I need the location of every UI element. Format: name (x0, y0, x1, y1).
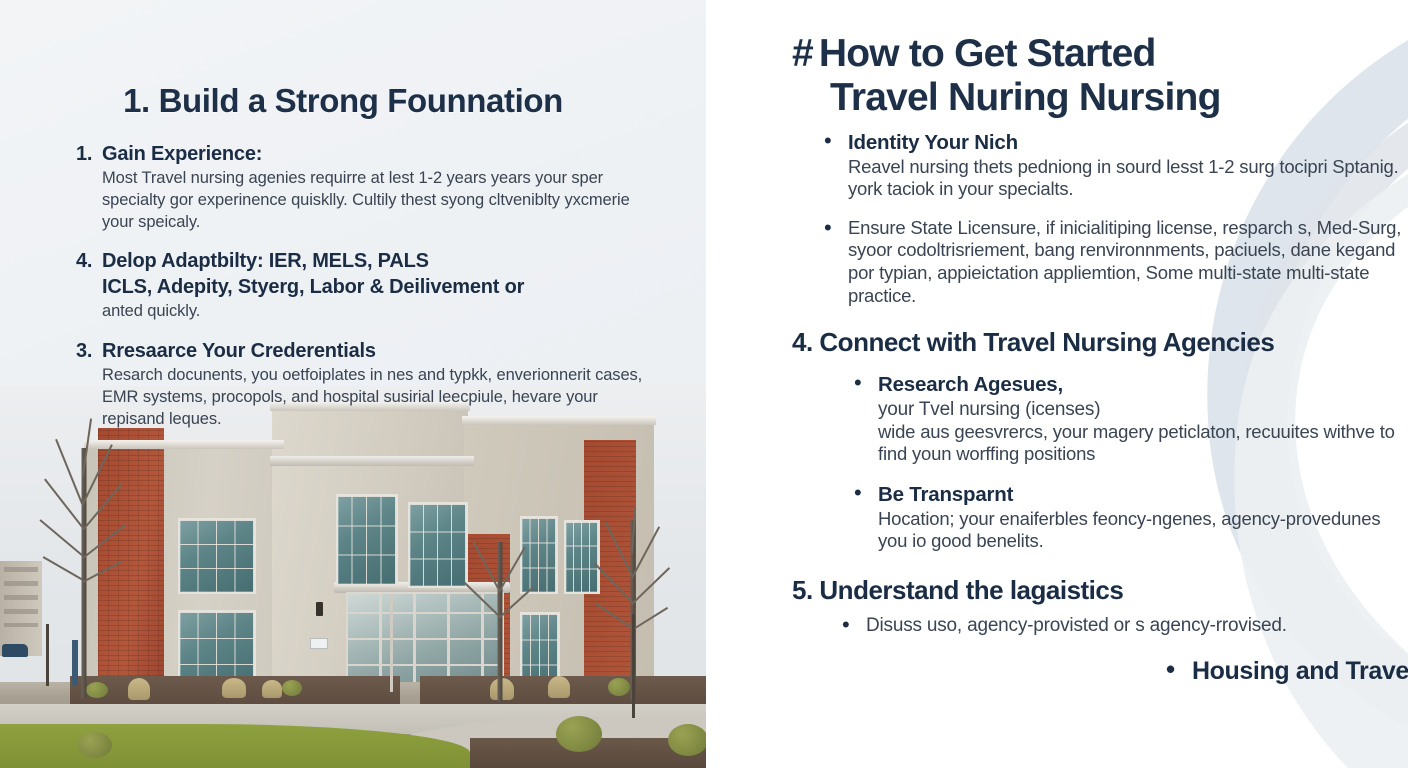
right-content-block: #How to Get Started Travel Nuring Nursin… (706, 0, 1408, 686)
right-panel-title: #How to Get Started Travel Nuring Nursin… (792, 32, 1408, 120)
section-4-title: 4. Connect with Travel Nursing Agencies (792, 327, 1408, 358)
building-sign (310, 638, 328, 649)
shrub-foreground-2 (668, 724, 706, 756)
numbered-item-1-marker: 1. (76, 142, 102, 167)
light-pole-foreground (632, 614, 635, 718)
bullet-identify-niche: Identity Your Nich Reavel nursing thets … (848, 130, 1408, 201)
right-panel-title-line2: Travel Nuring Nursing (792, 76, 1408, 120)
section-5-title: 5. Understand the lagaistics (792, 575, 1408, 606)
slide-canvas: 1. Build a Strong Founnation 1. Gain Exp… (0, 0, 1408, 768)
shrub-foreground-1 (556, 716, 602, 752)
shrub-1 (282, 680, 302, 696)
bullet-list-section-5: Disuss uso, agency-provisted or s agency… (792, 614, 1408, 637)
bullet-list-section-4: Research Agesues, your Tvel nursing (ice… (792, 372, 1408, 553)
bullet-discuss-logistics: Disuss uso, agency-provisted or s agency… (866, 614, 1408, 637)
numbered-item-1: 1. Gain Experience: Most Travel nursing … (76, 142, 648, 233)
numbered-item-1-head: 1. Gain Experience: (76, 142, 648, 167)
bare-tree-left (34, 408, 134, 698)
window-upper-center-a (336, 494, 398, 586)
wall-sconce-light (316, 602, 323, 616)
main-building (84, 406, 654, 688)
bullet-research-agencies-heading: Research Agesues, (878, 372, 1408, 398)
bullet-identify-niche-heading: Identity Your Nich (848, 130, 1408, 156)
bullet-state-licensure-body: Ensure State Licensure, if inicialitipin… (848, 217, 1408, 307)
bullet-research-agencies-inline: your Tvel nursing (icenses) (878, 399, 1100, 420)
numbered-item-3-heading: Rresaarce Your Crederentials (102, 339, 648, 364)
numbered-item-2-subheading: ICLS, Adepity, Styerg, Labor & Deiliveme… (102, 274, 648, 300)
bullet-identify-niche-body: Reavel nursing thets pedniong in sourd l… (848, 156, 1408, 201)
bullet-discuss-logistics-body: Disuss uso, agency-provisted or s agency… (866, 614, 1408, 637)
numbered-item-2-head: 4. Delop Adaptbilty: IER, MELS, PALS (76, 249, 648, 274)
numbered-item-2-body: anted quickly. (102, 301, 648, 323)
bullet-be-transparent: Be Transparnt Hocation; your enaiferbles… (878, 482, 1408, 553)
numbered-item-1-body: Most Travel nursing agenies requirre at … (102, 168, 648, 233)
entrance-door-mullion (390, 594, 393, 692)
bullet-housing-and-travel: Housing and Travel (1192, 657, 1408, 686)
ornamental-grass-2 (222, 678, 246, 698)
parked-car (2, 644, 28, 657)
tree-branches-left (34, 408, 134, 698)
shrub-foreground-3 (78, 732, 112, 758)
numbered-item-2: 4. Delop Adaptbilty: IER, MELS, PALS ICL… (76, 249, 648, 323)
light-pole-left (46, 624, 49, 686)
bullet-state-licensure: Ensure State Licensure, if inicialitipin… (848, 217, 1408, 307)
left-text-block: 1. Build a Strong Founnation 1. Gain Exp… (0, 0, 706, 446)
tree-branches-mid-right (452, 526, 548, 702)
numbered-item-3-head: 3. Rresaarce Your Crederentials (76, 339, 648, 364)
left-panel-title: 1. Build a Strong Founnation (76, 82, 648, 120)
numbered-item-3-body: Resarch docunents, you oetfoiplates in n… (102, 365, 648, 430)
ornamental-grass-5 (548, 676, 570, 698)
bullet-research-agencies: Research Agesues, your Tvel nursing (ice… (878, 372, 1408, 466)
bullet-research-agencies-body: wide aus geesvrercs, your magery peticla… (878, 421, 1408, 466)
numbered-item-3: 3. Rresaarce Your Crederentials Resarch … (76, 339, 648, 430)
right-panel: #How to Get Started Travel Nuring Nursin… (706, 0, 1408, 768)
bullet-be-transparent-body: Hocation; your enaiferbles feoncy-ngenes… (878, 508, 1408, 553)
bullet-be-transparent-heading: Be Transparnt (878, 482, 1408, 508)
numbered-item-2-marker: 4. (76, 249, 102, 274)
numbered-item-1-heading: Gain Experience: (102, 142, 648, 167)
numbered-item-3-marker: 3. (76, 339, 102, 364)
bollard-left (72, 640, 78, 686)
bullet-list-top: Identity Your Nich Reavel nursing thets … (792, 130, 1408, 307)
left-panel: 1. Build a Strong Founnation 1. Gain Exp… (0, 0, 706, 768)
hash-icon: # (792, 32, 813, 75)
window-upper-left (178, 518, 256, 594)
upper-canopy (270, 456, 474, 466)
ornamental-grass-3 (262, 680, 282, 698)
numbered-item-2-heading: Delop Adaptbilty: IER, MELS, PALS (102, 249, 648, 274)
bare-tree-mid-right (452, 526, 548, 702)
right-panel-title-line1: How to Get Started (819, 32, 1156, 75)
